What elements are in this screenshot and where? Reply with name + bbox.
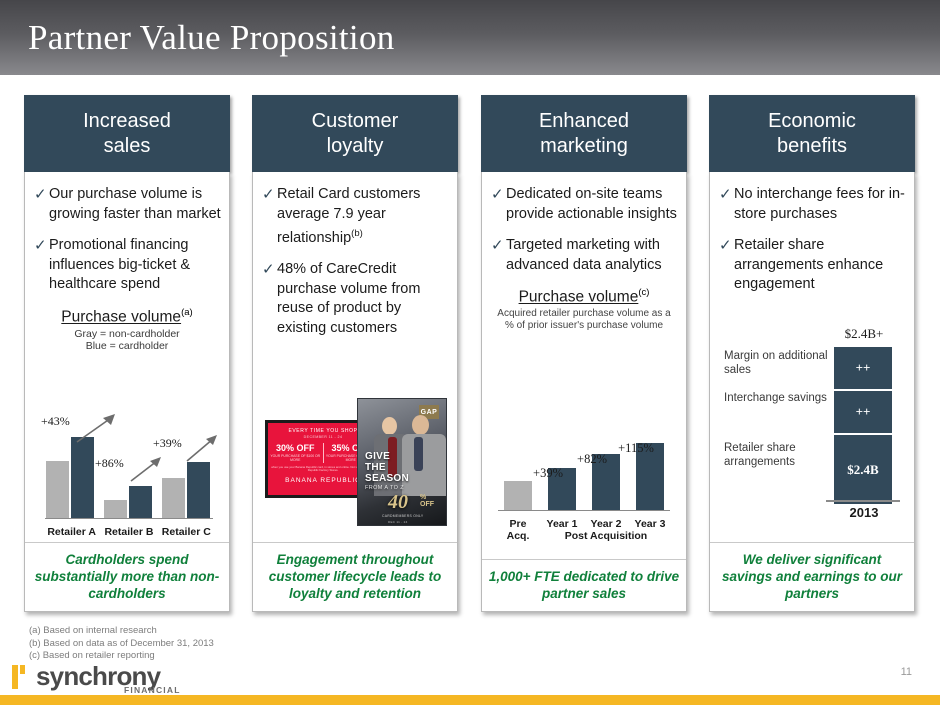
ad-discount-off-label: %OFF [420, 494, 434, 508]
list-item: ✓ Targeted marketing with advanced data … [491, 236, 678, 275]
chart-x-axis-line [498, 510, 670, 511]
column-2-heading-line2: loyalty [312, 134, 399, 159]
footnote-a: (a) Based on internal research [29, 625, 214, 638]
column-3-body: ✓ Dedicated on-site teams provide action… [481, 172, 687, 612]
ad-headline: GIVE THE SEASON [365, 451, 409, 484]
checkmark-icon: ✓ [34, 236, 49, 295]
page-number: 11 [901, 666, 912, 678]
list-item: ✓ Our purchase volume is growing faster … [34, 185, 221, 224]
ad-discount-percent: 40 [388, 491, 408, 514]
list-item: ✓ Dedicated on-site teams provide action… [491, 185, 678, 224]
column-2-caption: Engagement throughout customer lifecycle… [253, 542, 457, 611]
ad-fine-print-1: CARDMEMBERS ONLY [382, 514, 423, 518]
column-4-heading: Economic benefits [709, 95, 915, 172]
slide-header-bar: Partner Value Proposition [0, 0, 940, 75]
person-2-head [412, 415, 429, 435]
column-4-heading-line1: Economic [768, 109, 856, 134]
column-2-heading: Customer loyalty [252, 95, 458, 172]
x-label-year-1: Year 1 [540, 518, 584, 530]
chart-title-footnote-ref: (c) [638, 287, 649, 298]
growth-arrow-retailer-c [185, 432, 219, 464]
bar-cardholder [129, 486, 152, 518]
column-1-heading-line1: Increased [83, 109, 171, 134]
synchrony-logo: synchrony FINANCIAL [12, 663, 212, 697]
segment-margin-on-additional-sales: ++ [834, 347, 892, 391]
data-label-year-1: +39% [526, 466, 570, 481]
bullet-text: Our purchase volume is growing faster th… [49, 185, 221, 224]
column-enhanced-marketing: Enhanced marketing ✓ Dedicated on-site t… [481, 95, 687, 612]
stack-label-margin: Margin on additional sales [724, 350, 828, 377]
column-2-body: ✓ Retail Card customers average 7.9 year… [252, 172, 458, 612]
x-label-year: 2013 [824, 505, 904, 520]
list-item: ✓ Retail Card customers average 7.9 year… [262, 185, 449, 248]
column-1-chart-legend: Gray = non-cardholder Blue = cardholder [25, 328, 229, 353]
coupon-offer-1: 30% OFF YOUR PURCHASE OF $100 OR MORE [268, 443, 324, 463]
column-4-stacked-bar-chart: $2.4B+ ++ ++ $2.4B Margin on additional … [716, 324, 908, 524]
checkmark-icon: ✓ [491, 236, 506, 275]
checkmark-icon: ✓ [34, 185, 49, 224]
list-item: ✓ 48% of CareCredit purchase volume from… [262, 260, 449, 338]
checkmark-icon: ✓ [491, 185, 506, 224]
growth-arrow-retailer-b [129, 454, 163, 484]
column-4-caption: We deliver significant savings and earni… [710, 542, 914, 611]
gap-advertisement-image: GAP GIVE THE SEASON FROM A TO Z [357, 398, 447, 526]
stack-label-retailer-share: Retailer share arrangements [724, 442, 828, 469]
column-3-chart-title: Purchase volume(c) [482, 287, 686, 306]
x-label-retailer-c: Retailer C [158, 526, 215, 538]
bar-pre-acq [504, 481, 532, 510]
column-3-caption: 1,000+ FTE dedicated to drive partner sa… [482, 559, 686, 611]
logo-mark-icon [12, 665, 32, 689]
x-label-pre-acq-line1: Pre [496, 518, 540, 530]
growth-arrow-retailer-a [75, 412, 117, 444]
bullet-text: Dedicated on-site teams provide actionab… [506, 185, 678, 224]
column-1-body: ✓ Our purchase volume is growing faster … [24, 172, 230, 612]
column-1-chart-title: Purchase volume(a) [25, 307, 229, 326]
checkmark-icon: ✓ [262, 260, 277, 338]
checkmark-icon: ✓ [719, 185, 734, 224]
column-2-marketing-images: EVERY TIME YOU SHOP DECEMBER 11 - 24 30%… [265, 398, 447, 532]
column-1-heading: Increased sales [24, 95, 230, 172]
column-2-heading-line1: Customer [312, 109, 399, 134]
ad-fine-print-2: DEC 11 - 24 [388, 520, 408, 524]
column-3-chart-subtitle: Acquired retailer purchase volume as a %… [482, 308, 686, 332]
stacked-bar: ++ ++ $2.4B [834, 347, 892, 504]
x-label-pre-acq-line2: Acq. [496, 530, 540, 542]
list-item: ✓ No interchange fees for in-store purch… [719, 185, 906, 224]
ad-headline-line3: SEASON [365, 473, 409, 484]
chart-subtitle-line1: Acquired retailer purchase volume as a [482, 308, 686, 320]
bullet-text: Targeted marketing with advanced data an… [506, 236, 678, 275]
column-3-bullets: ✓ Dedicated on-site teams provide action… [482, 172, 686, 275]
checkmark-icon: ✓ [719, 236, 734, 295]
list-item: ✓ Promotional financing influences big-t… [34, 236, 221, 295]
column-3-heading-line1: Enhanced [539, 109, 629, 134]
column-1-bullets: ✓ Our purchase volume is growing faster … [25, 172, 229, 295]
bar-noncardholder [104, 500, 127, 518]
footer-accent-bar [0, 695, 940, 705]
column-increased-sales: Increased sales ✓ Our purchase volume is… [24, 95, 230, 612]
x-label-retailer-a: Retailer A [43, 526, 100, 538]
column-economic-benefits: Economic benefits ✓ No interchange fees … [709, 95, 915, 612]
ad-headline-line1: GIVE [365, 451, 409, 462]
chart-x-axis-sublabels: Acq. Post Acquisition [496, 530, 672, 542]
bullet-text: Retail Card customers average 7.9 year r… [277, 186, 420, 246]
segment-retailer-share-arrangements: $2.4B [834, 435, 892, 504]
column-1-caption: Cardholders spend substantially more tha… [25, 542, 229, 611]
bullet-text: Retailer share arrangements enhance enga… [734, 236, 906, 295]
person-1-head [382, 417, 397, 435]
x-label-year-2: Year 2 [584, 518, 628, 530]
legend-entry-cardholder: Blue = cardholder [25, 340, 229, 353]
chart-title-text: Purchase volume [519, 288, 639, 305]
column-3-heading-line2: marketing [539, 134, 629, 159]
page-title: Partner Value Proposition [28, 18, 395, 58]
segment-interchange-savings: ++ [834, 391, 892, 435]
list-item: ✓ Retailer share arrangements enhance en… [719, 236, 906, 295]
chart-title-text: Purchase volume [61, 308, 181, 325]
coupon-offer-1-amount: 30% OFF [268, 443, 323, 453]
checkmark-icon: ✓ [262, 185, 277, 248]
bar-noncardholder [46, 461, 69, 518]
columns-container: Increased sales ✓ Our purchase volume is… [0, 95, 940, 625]
coupon-offer-1-terms: YOUR PURCHASE OF $100 OR MORE [268, 454, 323, 463]
footnote-ref: (b) [351, 228, 363, 239]
column-1-heading-line2: sales [83, 134, 171, 159]
legend-entry-non-cardholder: Gray = non-cardholder [25, 328, 229, 341]
bar-noncardholder [162, 478, 185, 518]
column-3-heading: Enhanced marketing [481, 95, 687, 172]
footnotes: (a) Based on internal research (b) Based… [29, 625, 214, 663]
chart-x-axis-labels: Retailer A Retailer B Retailer C [43, 526, 215, 538]
stack-total-label: $2.4B+ [824, 326, 904, 342]
chart-x-axis-labels: Pre Year 1 Year 2 Year 3 [496, 518, 672, 530]
footnote-b: (b) Based on data as of December 31, 201… [29, 638, 214, 651]
data-label-year-3: +115% [614, 441, 658, 456]
column-2-bullets: ✓ Retail Card customers average 7.9 year… [253, 172, 457, 338]
bar-cardholder [71, 437, 94, 518]
column-customer-loyalty: Customer loyalty ✓ Retail Card customers… [252, 95, 458, 612]
growth-label-retailer-a: +43% [41, 414, 70, 429]
column-4-bullets: ✓ No interchange fees for in-store purch… [710, 172, 914, 295]
column-3-bar-chart: +39% +82% +115% Pre Year 1 Year 2 Year 3… [490, 422, 678, 544]
x-label-year-3: Year 3 [628, 518, 672, 530]
stack-label-interchange: Interchange savings [724, 392, 828, 406]
logo-bar-short [20, 665, 25, 674]
ad-headline-line2: THE [365, 462, 409, 473]
logo-bar-tall [12, 665, 18, 689]
bar-cardholder [187, 462, 210, 518]
column-4-heading-line2: benefits [768, 134, 856, 159]
growth-label-retailer-c: +39% [153, 436, 182, 451]
chart-subtitle-line2: % of prior issuer's purchase volume [482, 320, 686, 332]
x-group-label-post-acquisition: Post Acquisition [540, 530, 672, 542]
column-1-bar-chart: +43% +86% +39% Retailer A Retail [33, 410, 221, 540]
column-4-body: ✓ No interchange fees for in-store purch… [709, 172, 915, 612]
growth-label-retailer-b: +86% [95, 456, 124, 471]
bullet-text: Promotional financing influences big-tic… [49, 236, 221, 295]
scarf-2 [414, 437, 423, 471]
chart-title-footnote-ref: (a) [181, 307, 193, 318]
chart-x-axis-line [826, 500, 900, 502]
logo-subtext: FINANCIAL [124, 685, 181, 695]
chart-x-axis-line [45, 518, 213, 519]
bullet-text: 48% of CareCredit purchase volume from r… [277, 260, 449, 338]
x-label-retailer-b: Retailer B [100, 526, 157, 538]
bullet-text: No interchange fees for in-store purchas… [734, 185, 906, 224]
data-label-year-2: +82% [570, 452, 614, 467]
